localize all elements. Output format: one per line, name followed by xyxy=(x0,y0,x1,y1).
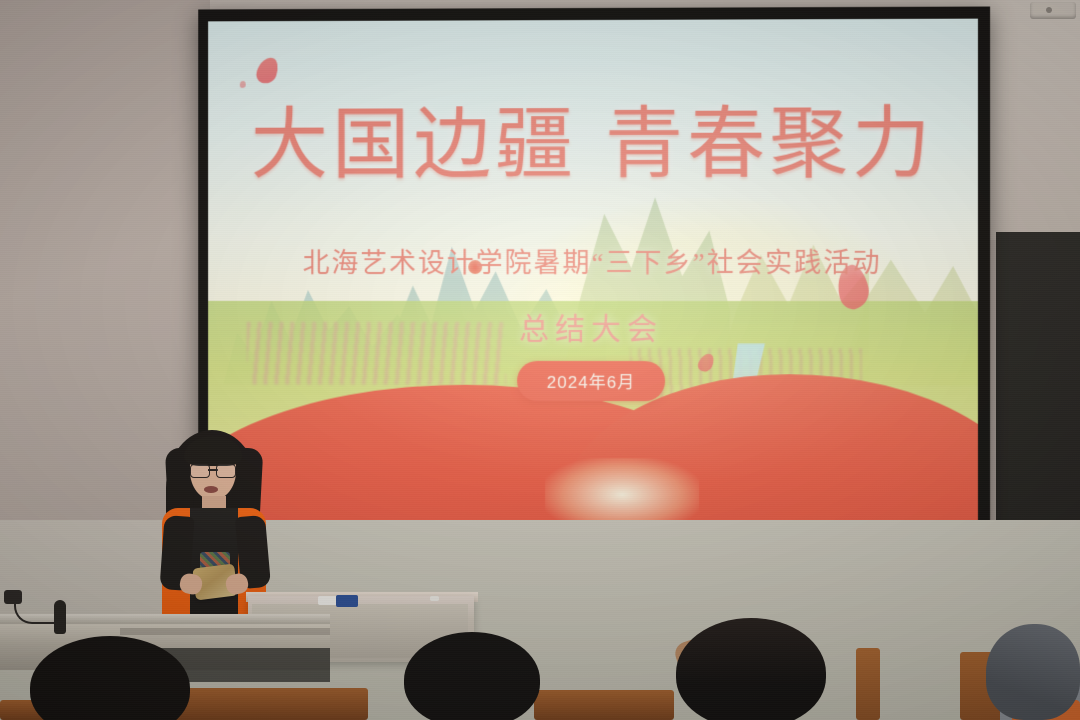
slide-title-part1: 大国边疆 xyxy=(251,101,577,188)
audience-head-4 xyxy=(986,624,1080,720)
desk-white-object xyxy=(318,596,338,605)
microphone-icon xyxy=(54,600,66,634)
glasses-bridge xyxy=(208,469,218,471)
slide-title: 大国边疆青春聚力 xyxy=(208,105,978,184)
audience-head-2 xyxy=(404,632,540,720)
blackboard xyxy=(996,232,1080,562)
petal-icon-1 xyxy=(254,55,281,87)
bench-center xyxy=(534,690,674,720)
front-desk-edge xyxy=(120,628,330,635)
petal-icon-2 xyxy=(240,81,246,88)
slide-title-part2: 青春聚力 xyxy=(605,100,935,188)
slide-subtitle-secondary: 总结大会 xyxy=(208,304,978,348)
bench-right-arm xyxy=(856,648,880,720)
ceiling-sensor-icon xyxy=(1046,7,1052,13)
presenter-mouth xyxy=(204,486,218,493)
slide-subtitle: 北海艺术设计学院暑期“三下乡”社会实践活动 xyxy=(208,241,978,280)
ceiling-fixture xyxy=(1030,2,1076,19)
glasses-icon xyxy=(190,464,236,476)
slide-date-badge-container: 2024年6月 xyxy=(208,361,978,402)
photo-scene: 大国边疆青春聚力 北海艺术设计学院暑期“三下乡”社会实践活动 总结大会 2024… xyxy=(0,0,1080,720)
desk-blue-book xyxy=(336,595,358,607)
desk-small-object xyxy=(430,596,439,601)
presentation-slide: 大国边疆青春聚力 北海艺术设计学院暑期“三下乡”社会实践活动 总结大会 2024… xyxy=(208,19,978,543)
slide-date-badge: 2024年6月 xyxy=(517,361,665,401)
audience-head-3 xyxy=(676,618,826,720)
projection-screen: 大国边疆青春聚力 北海艺术设计学院暑期“三下乡”社会实践活动 总结大会 2024… xyxy=(198,7,990,555)
projection-screen-surface: 大国边疆青春聚力 北海艺术设计学院暑期“三下乡”社会实践活动 总结大会 2024… xyxy=(208,19,978,543)
